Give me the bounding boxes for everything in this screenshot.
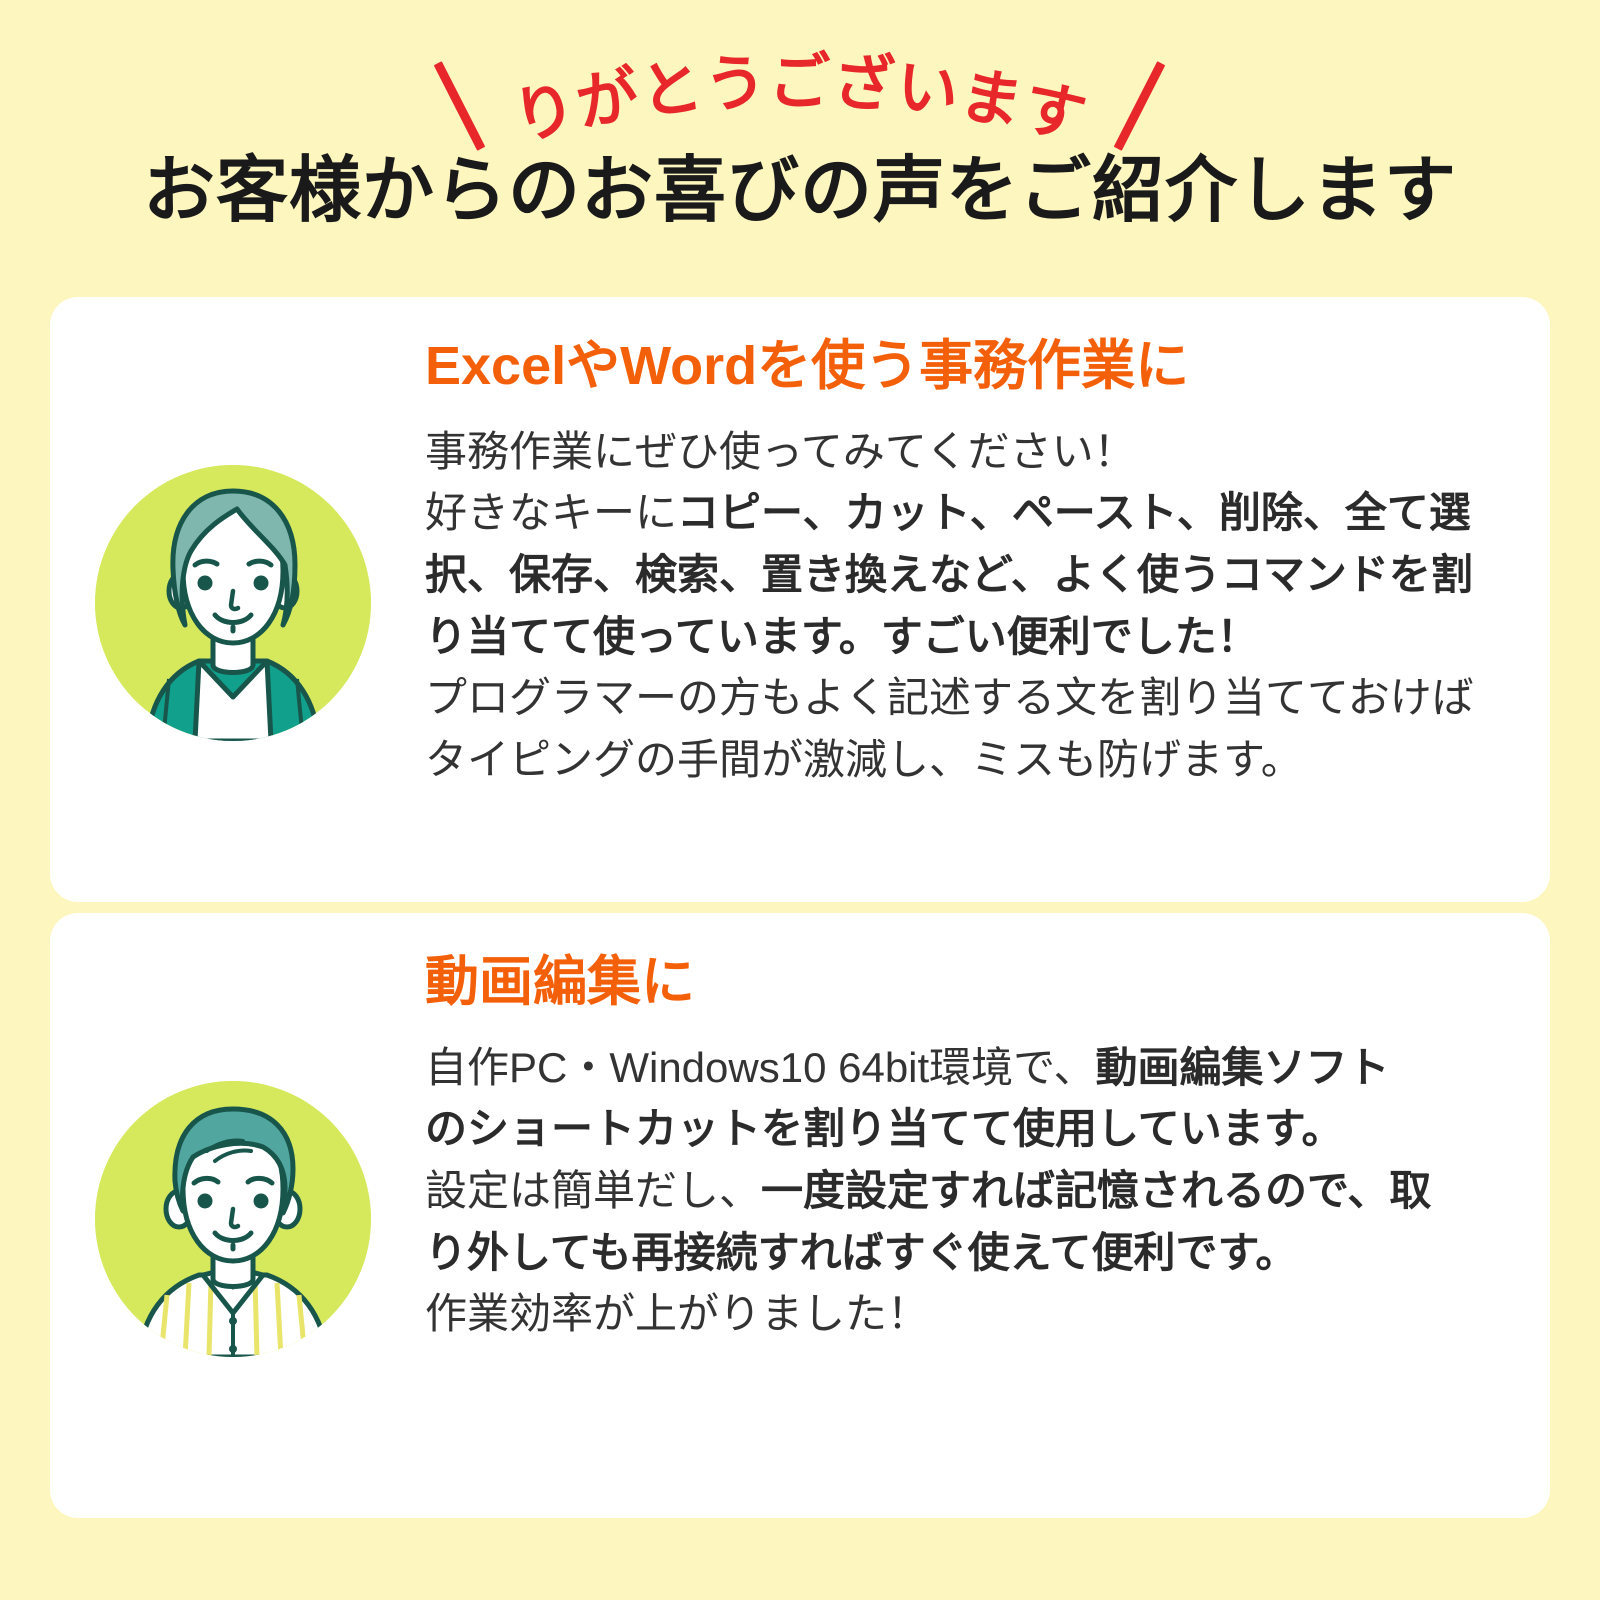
arc-text-content: ありがとうございます！ (0, 28, 1093, 154)
testimonial-line: り当てて使っています。すごい便利でした！ (425, 606, 1515, 668)
testimonial-line: タイピングの手間が激減し、ミスも防げます。 (425, 729, 1515, 791)
testimonial-body-2: 動画編集に 自作PC・Windows10 64bit環境で、動画編集ソフト のシ… (425, 949, 1515, 1345)
line-bold-part: 動画編集ソフト (1096, 1044, 1390, 1091)
testimonial-card-1: ExcelやWordを使う事務作業に 事務作業にぜひ使ってみてください！ 好きな… (50, 297, 1550, 902)
svg-text:ありがとうございます！: ありがとうございます！ (0, 28, 1093, 154)
line-normal-part: 自作PC・Windows10 64bit環境で、 (425, 1044, 1096, 1091)
avatar-male (95, 1081, 371, 1357)
line-bold-part: 一度設定すれば記憶されるので、取 (761, 1167, 1431, 1214)
testimonial-body-1: ExcelやWordを使う事務作業に 事務作業にぜひ使ってみてください！ 好きな… (425, 333, 1515, 791)
testimonial-line: 設定は簡単だし、一度設定すれば記憶されるので、取 (425, 1160, 1515, 1222)
line-normal-part: 好きなキーに (425, 489, 677, 536)
testimonial-line: 好きなキーにコピー、カット、ペースト、削除、全て選 (425, 482, 1515, 544)
thank-you-arc-text: ありがとうございます！ (0, 28, 1600, 158)
card-heading-2: 動画編集に (425, 949, 1515, 1017)
line-normal-part: 設定は簡単だし、 (425, 1167, 761, 1214)
card-heading-1: ExcelやWordを使う事務作業に (425, 333, 1515, 401)
testimonial-line: 択、保存、検索、置き換えなど、よく使うコマンドを割 (425, 544, 1515, 606)
thank-you-banner: ありがとうございます！ (0, 28, 1600, 158)
testimonial-line: プログラマーの方もよく記述する文を割り当てておけば (425, 667, 1515, 729)
testimonial-line: 作業効率が上がりました！ (425, 1283, 1515, 1345)
testimonial-card-2: 動画編集に 自作PC・Windows10 64bit環境で、動画編集ソフト のシ… (50, 913, 1550, 1518)
page-title: お客様からのお喜びの声をご紹介します (0, 148, 1600, 234)
testimonial-line: のショートカットを割り当てて使用しています。 (425, 1098, 1515, 1160)
line-bold-part: コピー、カット、ペースト、削除、全て選 (677, 489, 1471, 536)
testimonial-line: り外しても再接続すればすぐ使えて便利です。 (425, 1222, 1515, 1284)
avatar-female (95, 465, 371, 741)
testimonial-line: 自作PC・Windows10 64bit環境で、動画編集ソフト (425, 1037, 1515, 1099)
testimonial-line: 事務作業にぜひ使ってみてください！ (425, 421, 1515, 483)
